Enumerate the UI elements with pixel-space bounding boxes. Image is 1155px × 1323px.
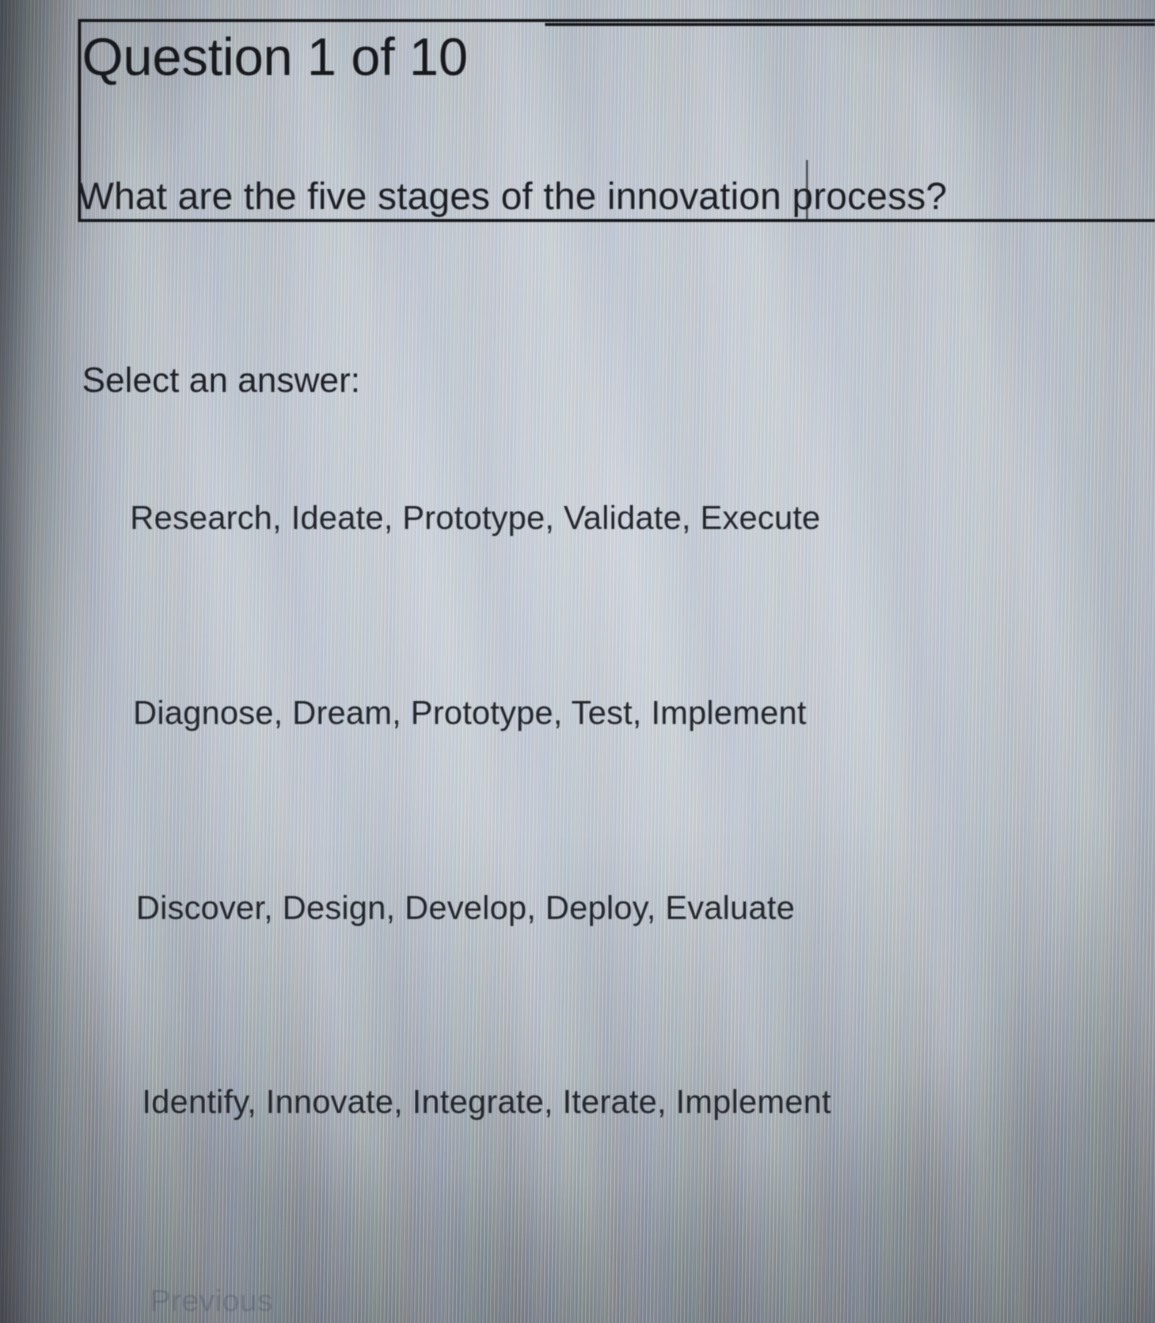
lens-vignette bbox=[0, 0, 1155, 1323]
quiz-screen: Question 1 of 10 What are the five stage… bbox=[0, 0, 1155, 1323]
